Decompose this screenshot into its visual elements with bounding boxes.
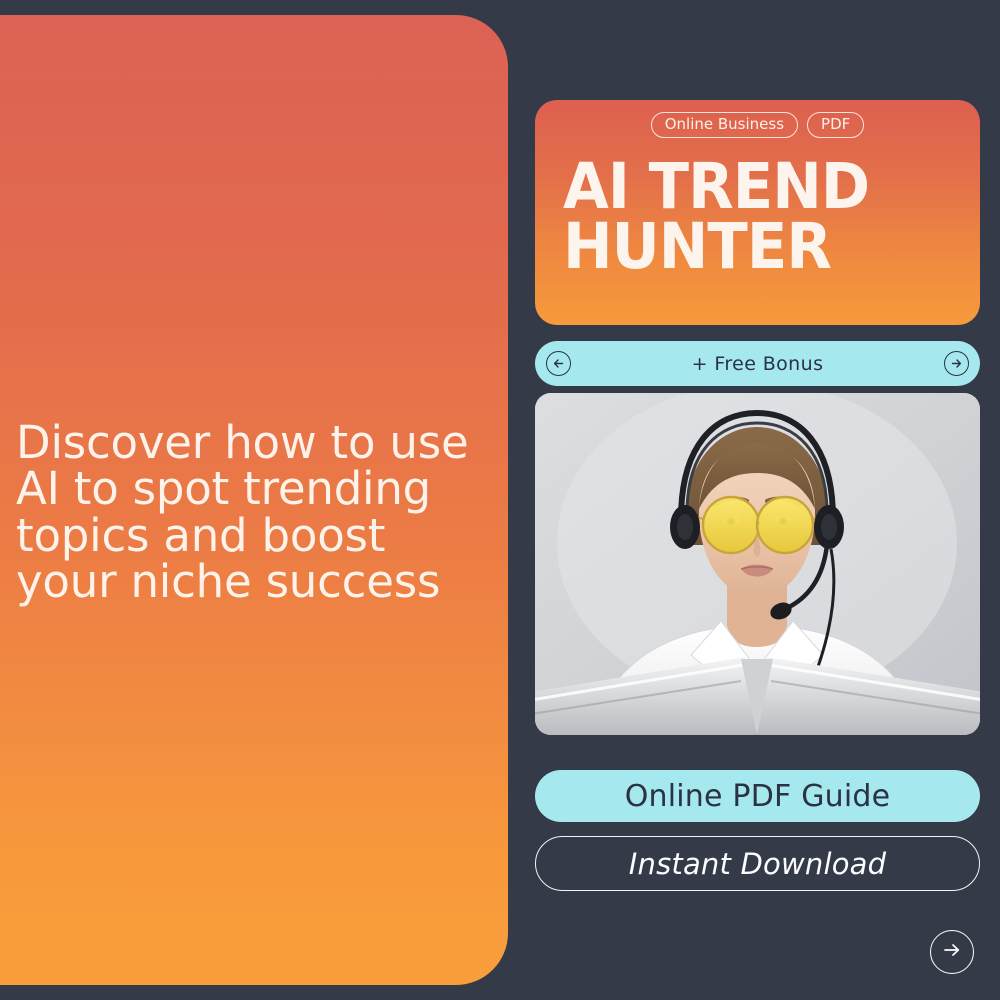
arrow-right-icon <box>940 938 964 967</box>
circle-arrow-right-icon[interactable] <box>944 351 969 376</box>
free-bonus-bar[interactable]: + Free Bonus <box>535 341 980 386</box>
headset-woman-illustration <box>535 393 980 735</box>
next-slide-button[interactable] <box>930 930 974 974</box>
hero-headline: Discover how to use AI to spot trending … <box>16 420 486 605</box>
left-hero-panel: Discover how to use AI to spot trending … <box>0 15 508 985</box>
badge-row: Online Business PDF <box>535 112 980 138</box>
badge-online-business: Online Business <box>651 112 798 138</box>
hero-photo <box>535 393 980 735</box>
ebook-title: AI TREND HUNTER <box>563 157 869 277</box>
online-pdf-guide-button[interactable]: Online PDF Guide <box>535 770 980 822</box>
badge-pdf: PDF <box>807 112 864 138</box>
ebook-cover-card[interactable]: Online Business PDF AI TREND HUNTER <box>535 100 980 325</box>
free-bonus-label: + Free Bonus <box>571 353 944 375</box>
instant-download-button[interactable]: Instant Download <box>535 836 980 891</box>
right-content-column: Online Business PDF AI TREND HUNTER + Fr… <box>535 0 980 1000</box>
circle-arrow-left-icon[interactable] <box>546 351 571 376</box>
